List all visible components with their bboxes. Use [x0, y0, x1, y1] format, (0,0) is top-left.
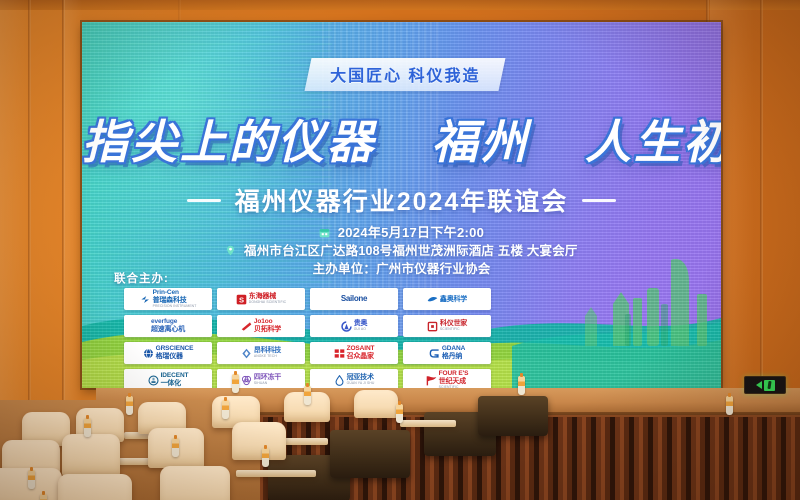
ceiling-strip	[0, 0, 800, 10]
sponsor-name-cn: 贵奥	[354, 320, 368, 327]
arrow-mark	[140, 294, 151, 305]
event-date-text: 2024年5月17日下午2:00	[338, 225, 484, 240]
led-display-screen: 大国匠心 科仪我造 指尖上的仪器 福州 人生初见 福州仪器行业2024年联谊会 …	[82, 22, 721, 388]
water-bottle	[126, 396, 133, 415]
sponsor-logo: 鑫奥科学	[403, 288, 491, 310]
water-bottle	[396, 404, 403, 423]
ca-circle-mark	[341, 321, 352, 332]
sponsor-logo: GDANA格丹纳	[403, 342, 491, 364]
sponsor-logo: 贵奥GUI AO	[310, 315, 398, 337]
sponsor-logo: IDECENT一体化	[124, 369, 212, 388]
sponsor-logo-grid: Prin-Cen普瑞森科技PRECISION INSTRUMENTS东海器械DO…	[124, 288, 690, 388]
sponsor-logo: ZOSAINT召众晶家	[310, 342, 398, 364]
banquet-chair	[232, 422, 286, 460]
sponsor-name-cn: 格瑞仪器	[156, 353, 183, 360]
sponsor-row: IDECENT一体化四环冻干SIHUAN冠亚技术GUAN YA JI SHUFO…	[124, 369, 690, 388]
sponsor-logo-text: 冠亚技术GUAN YA JI SHU	[347, 374, 375, 385]
subtitle-text: 福州仪器行业2024年联谊会	[235, 188, 569, 216]
arrow-left-icon	[756, 381, 762, 389]
sponsor-logo-text: GDANA格丹纳	[442, 346, 465, 360]
rings-mark	[241, 375, 252, 386]
water-bottle	[222, 400, 229, 419]
sponsor-row: Prin-Cen普瑞森科技PRECISION INSTRUMENTS东海器械DO…	[124, 288, 690, 310]
dash-right	[582, 199, 616, 202]
banquet-chair	[330, 430, 410, 478]
subtitle: 福州仪器行业2024年联谊会	[82, 182, 721, 218]
event-date-line: 2024年5月17日下午2:00	[82, 222, 721, 241]
sponsor-logo-text: Sailone	[341, 295, 367, 303]
leaf-mark	[427, 294, 438, 305]
drop-mark	[334, 375, 345, 386]
headline-part-3: 人生初见	[585, 116, 721, 168]
slogan-tag: 大国匠心 科仪我造	[304, 58, 505, 91]
sponsor-logo-text: IDECENT一体化	[161, 373, 189, 387]
dash-left	[187, 199, 221, 202]
sponsor-name-sub: GUI AO	[354, 328, 366, 331]
g-mark	[429, 348, 440, 359]
sponsor-name-cn: 格丹纳	[442, 353, 462, 360]
sponsor-name-cn: 冠亚技术	[347, 374, 374, 381]
sponsor-logo-text: FOUR E'S世纪天成SCIENTIFIC	[439, 371, 469, 388]
table-surface	[236, 470, 316, 477]
sponsor-name-cn: 鑫奥科学	[440, 296, 467, 303]
sponsor-logo: Prin-Cen普瑞森科技PRECISION INSTRUMENT	[124, 288, 212, 310]
sponsor-name-cn: 世纪天成	[439, 378, 466, 385]
sponsor-logo: 冠亚技术GUAN YA JI SHU	[310, 369, 398, 388]
running-man-icon	[764, 380, 775, 391]
sponsor-name-sub: ANGKE TECH	[254, 355, 277, 358]
banquet-chair	[62, 434, 120, 476]
banquet-chair	[58, 474, 132, 500]
sponsor-row: everfuge超速离心机Jo1oo贝拓科学贵奥GUI AO科仪世家SCIENT…	[124, 315, 690, 337]
sponsor-logo-text: GRSCIENCE格瑞仪器	[156, 346, 194, 360]
sponsor-name-sub: SIHUAN	[254, 382, 267, 385]
slogan-tag-text: 大国匠心 科仪我造	[330, 62, 480, 86]
prism-mark	[241, 348, 252, 359]
square-mark	[427, 321, 438, 332]
sponsor-logo-text: 科仪世家SCIENTIFIC	[440, 320, 467, 331]
sponsor-logo: S东海器械DONGHAI SCIENTIFIC	[217, 288, 305, 310]
event-organizer-text: 主办单位：广州市仪器行业协会	[313, 262, 491, 276]
water-bottle	[232, 374, 239, 393]
sponsor-logo: FOUR E'S世纪天成SCIENTIFIC	[403, 369, 491, 388]
sponsor-logo-text: 四环冻干SIHUAN	[254, 374, 281, 385]
sponsor-name-cn: 科仪世家	[440, 320, 467, 327]
flag-mark	[426, 375, 437, 386]
sponsor-logo-text: 贵奥GUI AO	[354, 320, 368, 331]
sponsor-name-cn: 召众晶家	[347, 353, 374, 360]
globe-mark	[143, 348, 154, 359]
calendar-icon	[319, 227, 330, 238]
sponsor-logo: 四环冻干SIHUAN	[217, 369, 305, 388]
sponsor-name-cn: 一体化	[161, 380, 181, 387]
water-bottle	[304, 386, 311, 405]
sponsor-logo-text: 东海器械DONGHAI SCIENTIFIC	[249, 293, 286, 304]
water-bottle	[28, 470, 35, 489]
water-bottle	[262, 448, 269, 467]
water-bottle	[518, 376, 525, 395]
sponsor-name-cn: 超速离心机	[151, 326, 185, 333]
sponsor-name-sub: SCIENTIFIC	[440, 328, 460, 331]
sponsor-name-cn: 昂科科技	[254, 347, 281, 354]
beaker-mark	[148, 375, 159, 386]
water-bottle	[726, 396, 733, 415]
exit-sign	[744, 376, 786, 394]
event-address-line: 福州市台江区广达路108号福州世茂洲际酒店 五楼 大宴会厅	[82, 240, 721, 259]
sponsors-label: 联合主办:	[114, 270, 169, 286]
water-bottle	[40, 494, 47, 500]
banquet-chair	[478, 396, 548, 436]
grid-mark	[334, 348, 345, 359]
sponsor-row: GRSCIENCE格瑞仪器昂科科技ANGKE TECHZOSAINT召众晶家GD…	[124, 342, 690, 364]
banquet-chair	[354, 390, 398, 418]
conference-hall-photo: 大国匠心 科仪我造 指尖上的仪器 福州 人生初见 福州仪器行业2024年联谊会 …	[0, 0, 800, 500]
sponsor-logo: Jo1oo贝拓科学	[217, 315, 305, 337]
banquet-chair	[160, 466, 230, 500]
sponsor-name-sub: GUAN YA JI SHU	[347, 382, 375, 385]
sponsor-logo-text: Jo1oo贝拓科学	[254, 319, 281, 333]
svg-text:S: S	[239, 295, 244, 304]
sponsor-name-sub: DONGHAI SCIENTIFIC	[249, 301, 286, 304]
map-pin-icon	[225, 245, 236, 256]
sponsor-logo-text: 鑫奥科学	[440, 296, 467, 303]
sponsor-logo: 昂科科技ANGKE TECH	[217, 342, 305, 364]
headline-part-1: 指尖上的仪器	[82, 116, 376, 168]
headline-part-2: 福州	[432, 116, 530, 168]
table-surface	[400, 420, 456, 427]
headline: 指尖上的仪器 福州 人生初见	[82, 106, 721, 172]
sponsor-name-cn: 普瑞森科技	[153, 297, 187, 304]
sponsor-logo: 科仪世家SCIENTIFIC	[403, 315, 491, 337]
sponsor-logo-text: ZOSAINT召众晶家	[347, 346, 375, 360]
event-organizer-line: 主办单位：广州市仪器行业协会	[82, 258, 721, 277]
sponsor-name-sub: PRECISION INSTRUMENT	[153, 305, 197, 308]
water-bottle	[84, 418, 91, 437]
sponsor-logo-text: Prin-Cen普瑞森科技PRECISION INSTRUMENT	[153, 290, 197, 308]
sponsor-name-en: Sailone	[341, 295, 367, 303]
sponsor-logo-text: everfuge超速离心机	[151, 319, 185, 333]
water-bottle	[172, 438, 179, 457]
sponsor-logo: Sailone	[310, 288, 398, 310]
event-address-text: 福州市台江区广达路108号福州世茂洲际酒店 五楼 大宴会厅	[244, 244, 578, 258]
sponsor-name-cn: 贝拓科学	[254, 326, 281, 333]
swoosh-mark	[241, 321, 252, 332]
sponsor-logo: everfuge超速离心机	[124, 315, 212, 337]
s-square-mark: S	[236, 294, 247, 305]
sponsor-logo-text: 昂科科技ANGKE TECH	[254, 347, 281, 358]
sponsor-logo: GRSCIENCE格瑞仪器	[124, 342, 212, 364]
sponsor-name-cn: 东海器械	[249, 293, 276, 300]
sponsor-name-cn: 四环冻干	[254, 374, 281, 381]
